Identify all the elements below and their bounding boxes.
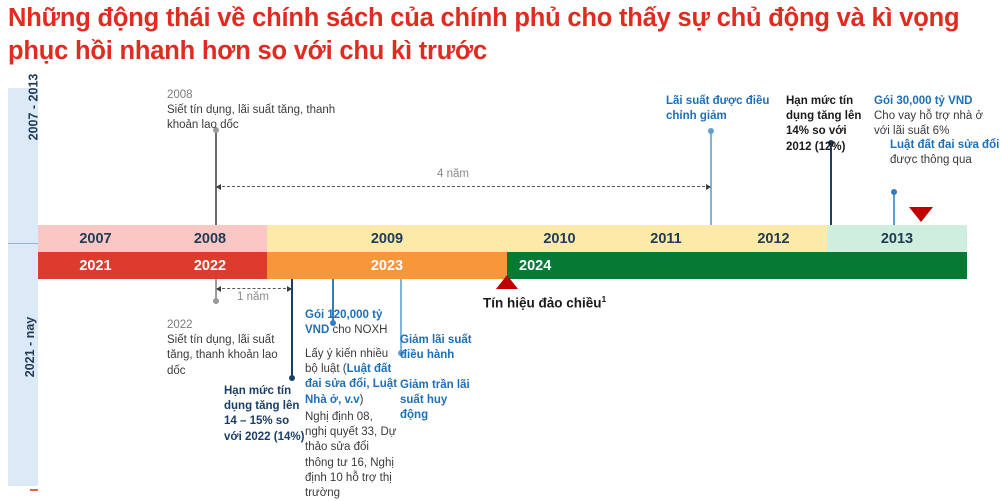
connector-dot <box>708 128 714 134</box>
timeline-segment-2022: 2022 <box>153 252 267 279</box>
note-package-30k: Gói 30,000 tỷ VND Cho vay hỗ trợ nhà ở v… <box>874 94 996 140</box>
timeline-segment-2024: 2024 <box>507 252 967 279</box>
axis-label-2021-nay-text: 2021 - nay <box>23 317 37 377</box>
note-decrees: Nghị định 08, nghị quyết 33, Dự thảo sửa… <box>305 410 397 501</box>
axis-label-2007-2013-text: 2007 - 2013 <box>26 74 40 141</box>
timeline-segment-2012: 2012 <box>720 225 827 252</box>
axis-divider <box>8 243 38 244</box>
segment-label: 2008 <box>194 231 226 247</box>
connector-note-credit-limit-14 <box>830 143 832 225</box>
segment-label: 2011 <box>650 231 681 247</box>
period-axis-panel <box>8 88 38 486</box>
measure-one-year-label: 1 năm <box>237 291 269 303</box>
segment-label: 2007 <box>79 231 111 247</box>
note-land-law: Luật đất đai sửa đổi được thông qua <box>890 138 1000 168</box>
signal-reversal-text: Tín hiệu đảo chiều <box>483 296 602 311</box>
timeline-segment-2009: 2009 <box>267 225 507 252</box>
timeline-segment-2023: 2023 <box>267 252 507 279</box>
axis-label-2021-nay: 2021 - nay <box>0 340 30 354</box>
timeline-segment-2010: 2010 <box>507 225 612 252</box>
note-credit-limit-15: Hạn mức tín dụng tăng lên 14 – 15% so vớ… <box>224 384 308 445</box>
note-deposit-cap-heading: Giảm trần lãi suất huy động <box>400 378 478 424</box>
note-2008: 2008 Siết tín dụng, lãi suất tăng, thanh… <box>167 88 352 134</box>
axis-label-2007-2013: 2007 - 2013 <box>0 100 30 114</box>
segment-label: 2021 <box>79 258 111 274</box>
segment-label: 2024 <box>519 258 551 274</box>
measure-four-years-label: 4 năm <box>437 168 469 180</box>
note-land-law-heading: Luật đất đai sửa đổi <box>890 139 999 151</box>
measure-one-year <box>217 288 291 290</box>
timeline-segment-2008: 2008 <box>153 225 267 252</box>
timeline-segment-2007: 2007 <box>38 225 153 252</box>
infographic-canvas: Những động thái về chính sách của chính … <box>0 0 1000 494</box>
note-credit-limit-14-heading: Hạn mức tín dụng tăng lên 14% so với 201… <box>786 94 874 155</box>
timeline-segment-2021: 2021 <box>38 252 153 279</box>
footnote-tick-icon <box>30 489 38 491</box>
note-rate-cut: Lãi suất được điều chỉnh giảm <box>666 94 776 124</box>
note-consultation: Lấy ý kiến nhiều bộ luật (Luật đất đai s… <box>305 347 401 408</box>
connector-note-2008 <box>215 130 217 225</box>
note-package-30k-heading: Gói 30,000 tỷ VND <box>874 95 972 107</box>
note-2022-body: Siết tín dụng, lãi suất tăng, thanh khoả… <box>167 334 278 376</box>
signal-reversal-label: Tín hiệu đảo chiều1 <box>483 294 606 311</box>
note-package-30k-body: Cho vay hỗ trợ nhà ở với lãi suất 6% <box>874 110 983 137</box>
segment-label: 2023 <box>371 258 403 274</box>
connector-note-land-law <box>893 192 895 225</box>
connector-dot <box>213 298 219 304</box>
connector-note-rate-cut <box>710 131 712 225</box>
note-2008-body: Siết tín dụng, lãi suất tăng, thanh khoả… <box>167 104 335 131</box>
segment-label: 2013 <box>881 231 913 247</box>
note-policy-rate-heading: Giảm lãi suất điều hành <box>400 333 472 363</box>
note-credit-limit-15-heading: Hạn mức tín dụng tăng lên 14 – 15% so vớ… <box>224 384 308 445</box>
note-decrees-body: Nghị định 08, nghị quyết 33, Dự thảo sửa… <box>305 410 397 501</box>
note-rate-cut-heading: Lãi suất được điều chỉnh giảm <box>666 94 776 124</box>
segment-label: 2009 <box>371 231 403 247</box>
page-title: Những động thái về chính sách của chính … <box>8 2 988 67</box>
note-package-120k: Gói 120,000 tỷ VND cho NOXH <box>305 308 399 338</box>
timeline-segment-2011: 2011 <box>612 225 720 252</box>
note-2022-year: 2022 <box>167 319 193 331</box>
timeline-segment-2013: 2013 <box>827 225 967 252</box>
marker-triangle-2013-icon <box>909 207 933 222</box>
note-policy-rate: Giảm lãi suất điều hành <box>400 333 472 363</box>
timeline-bar-top: 2007 2008 2009 2010 2011 2012 2013 <box>38 225 967 252</box>
note-land-law-body: được thông qua <box>890 154 972 166</box>
connector-dot <box>891 189 897 195</box>
segment-label: 2022 <box>194 258 226 274</box>
note-deposit-cap: Giảm trần lãi suất huy động <box>400 378 478 424</box>
segment-label: 2010 <box>543 231 575 247</box>
note-credit-limit-14: Hạn mức tín dụng tăng lên 14% so với 201… <box>786 94 874 155</box>
note-package-120k-body: cho NOXH <box>332 324 387 336</box>
note-2008-year: 2008 <box>167 89 193 101</box>
note-consultation-body-post: ) <box>360 394 364 406</box>
measure-four-years <box>217 186 710 188</box>
marker-triangle-signal-icon <box>496 275 518 289</box>
segment-label: 2012 <box>757 231 789 247</box>
note-2022: 2022 Siết tín dụng, lãi suất tăng, thanh… <box>167 318 292 379</box>
signal-footnote-marker: 1 <box>602 294 607 304</box>
